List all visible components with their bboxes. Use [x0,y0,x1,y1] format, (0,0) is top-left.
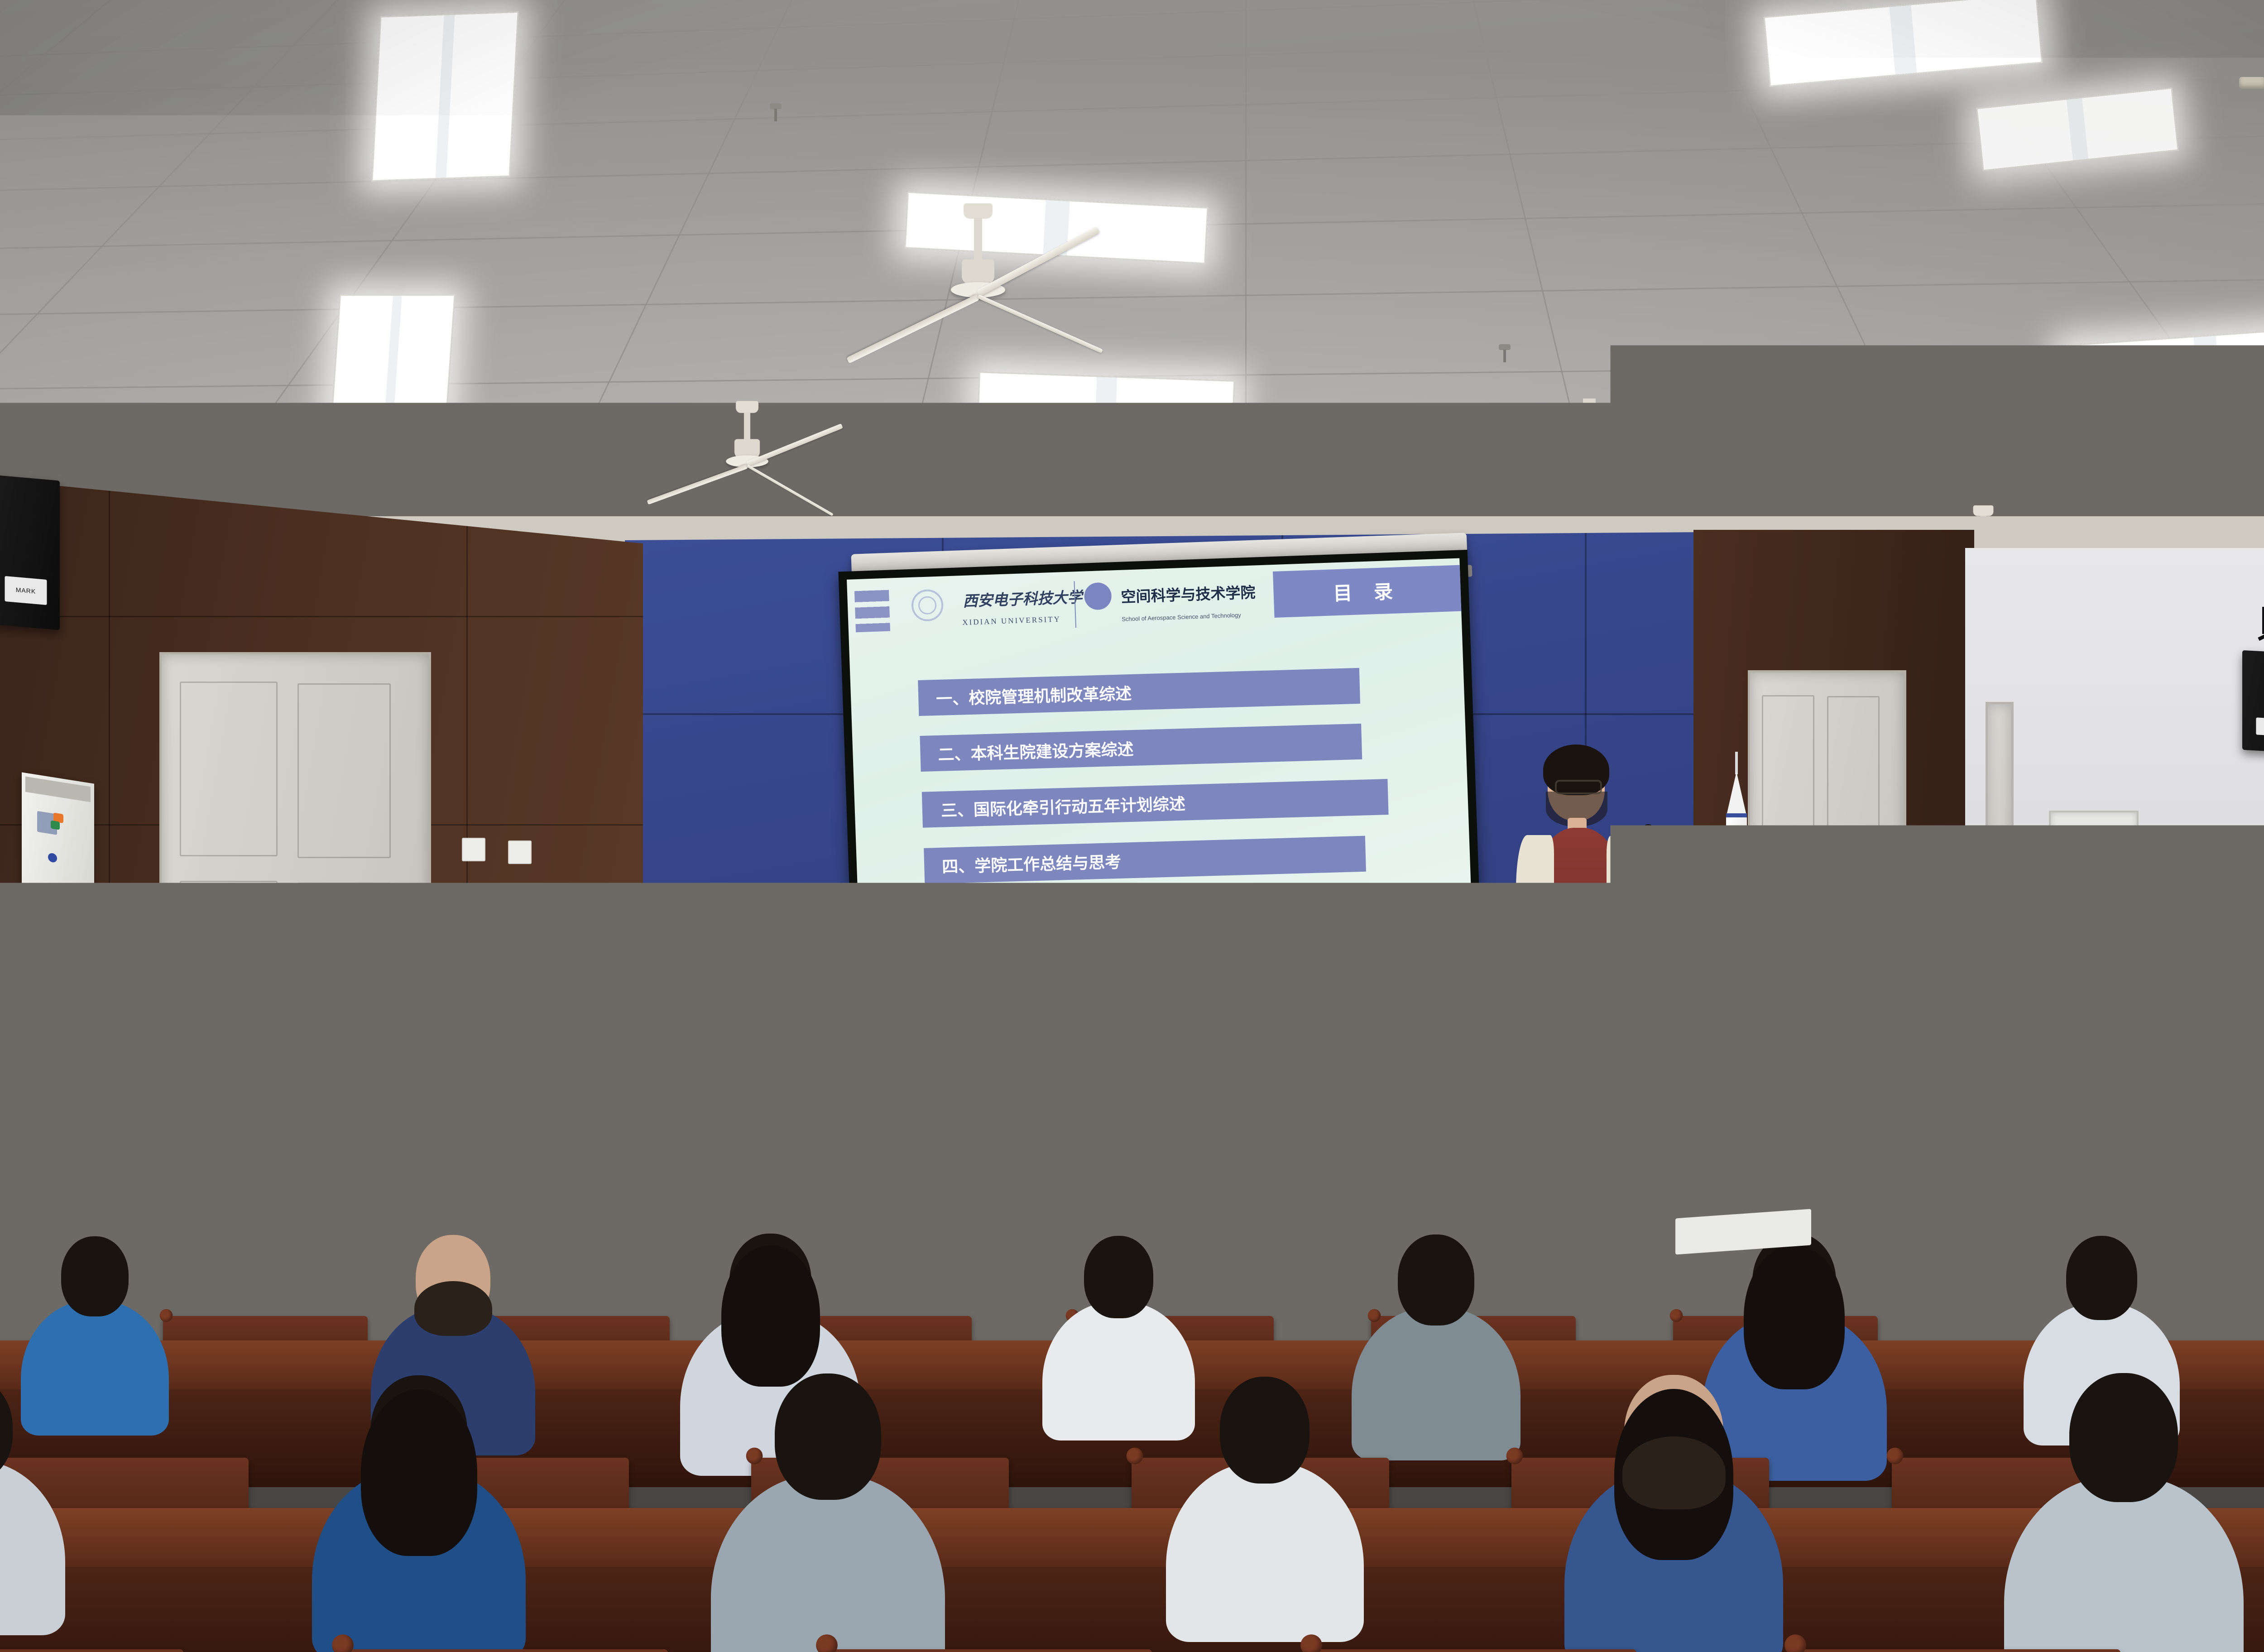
audience-hair [414,1281,492,1336]
toc-label-1: 一、校院管理机制改革综述 [935,680,1132,709]
audience-head [820,1045,870,1105]
audience-hair [667,943,693,962]
door-left[interactable] [159,652,431,1119]
audience-head [1226,927,1254,960]
audience-head [1398,1234,1474,1325]
small-device [1693,847,1715,864]
water-bottle [1241,1052,1270,1129]
audience-hair [1065,1004,1100,1028]
slide-title: 目 录 [1333,576,1401,606]
audience-torso [1042,1302,1195,1441]
slide-title-band: 目 录 [1273,565,1461,618]
school-badge-icon [1084,582,1112,610]
audience-head [387,1047,428,1096]
eyeglasses-icon [1555,780,1602,794]
audience-torso [1539,1015,1614,1084]
toc-item-1: 一、校院管理机制改革综述 [918,668,1360,716]
audience-head [1710,982,1747,1027]
projection-screen-frame: 西安电子科技大学 XIDIAN UNIVERSITY 空间科学与技术学院 Sch… [838,550,1481,961]
audience-torso [702,1017,781,1089]
seat-knob [1126,1447,1143,1464]
audience-hair [619,1052,674,1131]
audience-hair [870,987,918,1055]
audience-head [61,1236,129,1316]
sprinkler-head [585,432,597,451]
audience-hair [1104,932,1135,976]
audience-torso [1459,1094,1572,1196]
speaker-bracket [2262,607,2264,634]
ceiling-light-panel [371,11,519,182]
audience-head [1624,927,1653,961]
university-name-en: XIDIAN UNIVERSITY [962,615,1061,627]
audience-head [1386,927,1417,964]
audience-head [724,982,760,1025]
rocket-model [1716,752,1757,906]
seat-knob [160,1309,173,1322]
projected-slide: 西安电子科技大学 XIDIAN UNIVERSITY 空间科学与技术学院 Sch… [847,558,1473,953]
audience-head [532,983,565,1022]
audience-head [2066,1236,2137,1320]
seat-knob [1300,1634,1322,1652]
audience-head [1057,1047,1099,1097]
sprinkler-head [770,103,782,121]
tote-bag [2119,952,2223,1042]
speaker-brand-label: MARK [5,576,47,605]
marker-blue [48,853,57,863]
audience-torso [1765,957,1834,1020]
audience-torso [362,1086,453,1168]
audience-head [1220,1377,1309,1483]
power-outlet[interactable] [508,840,532,864]
seat-back[interactable] [824,1649,1152,1652]
thermos [1870,1104,1902,1186]
audience-hair [228,1133,291,1224]
toc-item-2: 二、本科生院建设方案综述 [920,724,1362,772]
decor-bars [854,590,890,632]
audience-head [775,1373,881,1500]
seat-knob [1886,1447,1903,1464]
seat-knob [816,1634,838,1652]
audience-head [2069,1373,2178,1502]
toc-label-2: 二、本科生院建设方案综述 [938,736,1134,765]
audience-head [1784,927,1815,964]
laptop-open[interactable] [1904,1110,2058,1231]
lecture-hall-photo: EPSON [0,0,2264,1652]
audience-hair [1047,1133,1112,1226]
audience-torso [929,956,996,1016]
toc-item-3: 三、国际化牵引行动五年计划综述 [922,779,1389,828]
xidian-emblem-icon [911,589,944,622]
toc-item-4: 四、学院工作总结与思考 [924,836,1366,884]
thermos [2255,945,2264,1024]
seat-knob [1784,1634,1806,1652]
seat-back[interactable] [340,1649,668,1652]
seat-knob [1506,1447,1523,1464]
slide-header: 西安电子科技大学 XIDIAN UNIVERSITY 空间科学与技术学院 Sch… [847,558,1462,654]
audience-hair [1622,1436,1726,1509]
toc-label-3: 三、国际化牵引行动五年计划综述 [940,791,1185,821]
audience-torso [1166,1462,1364,1642]
seat-back[interactable] [0,1649,183,1652]
audience-torso [1545,1186,1689,1316]
university-name-cn: 西安电子科技大学 [962,585,1083,610]
smoke-detector [2239,77,2264,89]
audience-torso [811,954,872,1009]
audience-torso [485,1180,613,1297]
audience-head [1298,1125,1358,1196]
school-name-en: School of Aerospace Science and Technolo… [1122,611,1241,622]
ceiling-light-panel [977,371,1235,425]
audience-hair [721,1245,820,1387]
audience-torso [1352,1307,1520,1461]
audience-head [1217,982,1254,1026]
audience-head [828,927,855,960]
seat-back[interactable] [1308,1649,1636,1652]
sprinkler-head [1499,344,1511,362]
seat-knob [746,1447,763,1464]
audience-head [947,927,977,963]
audience-hair [361,1389,477,1556]
audience-head [1084,1236,1153,1318]
speaker-brand-label: MARK [2256,718,2264,737]
audience-torso [513,1014,584,1079]
audience-hair [1404,987,1453,1057]
water-bottle-cap [1240,1042,1271,1057]
audience-head [1559,983,1593,1023]
seat-back[interactable] [1792,1649,2120,1652]
audience-torso [1262,1181,1394,1301]
seat-knob [332,1634,354,1652]
audience-hair [1744,1245,1845,1389]
toc-label-4: 四、学院工作总结与思考 [941,849,1121,877]
audience-head [766,1124,830,1200]
audience-head [1490,1045,1541,1106]
audience-head [2077,1124,2138,1197]
wall-speaker-left: MARK [0,475,60,630]
ceiling: EPSON [0,0,2264,598]
seat-knob [1368,1309,1381,1322]
marker-green [51,820,60,830]
audience-torso [1606,955,1670,1013]
easel-leg [7,909,34,995]
wall-speaker-right: MARK [2242,650,2264,754]
power-outlet[interactable] [462,838,485,861]
ceiling-light-panel [331,294,456,424]
audience-hair [1502,932,1534,977]
audience-head [520,1125,578,1194]
seat-knob [1670,1309,1683,1322]
school-name-cn: 空间科学与技术学院 [1121,580,1256,606]
audience-head [1585,1124,1650,1201]
